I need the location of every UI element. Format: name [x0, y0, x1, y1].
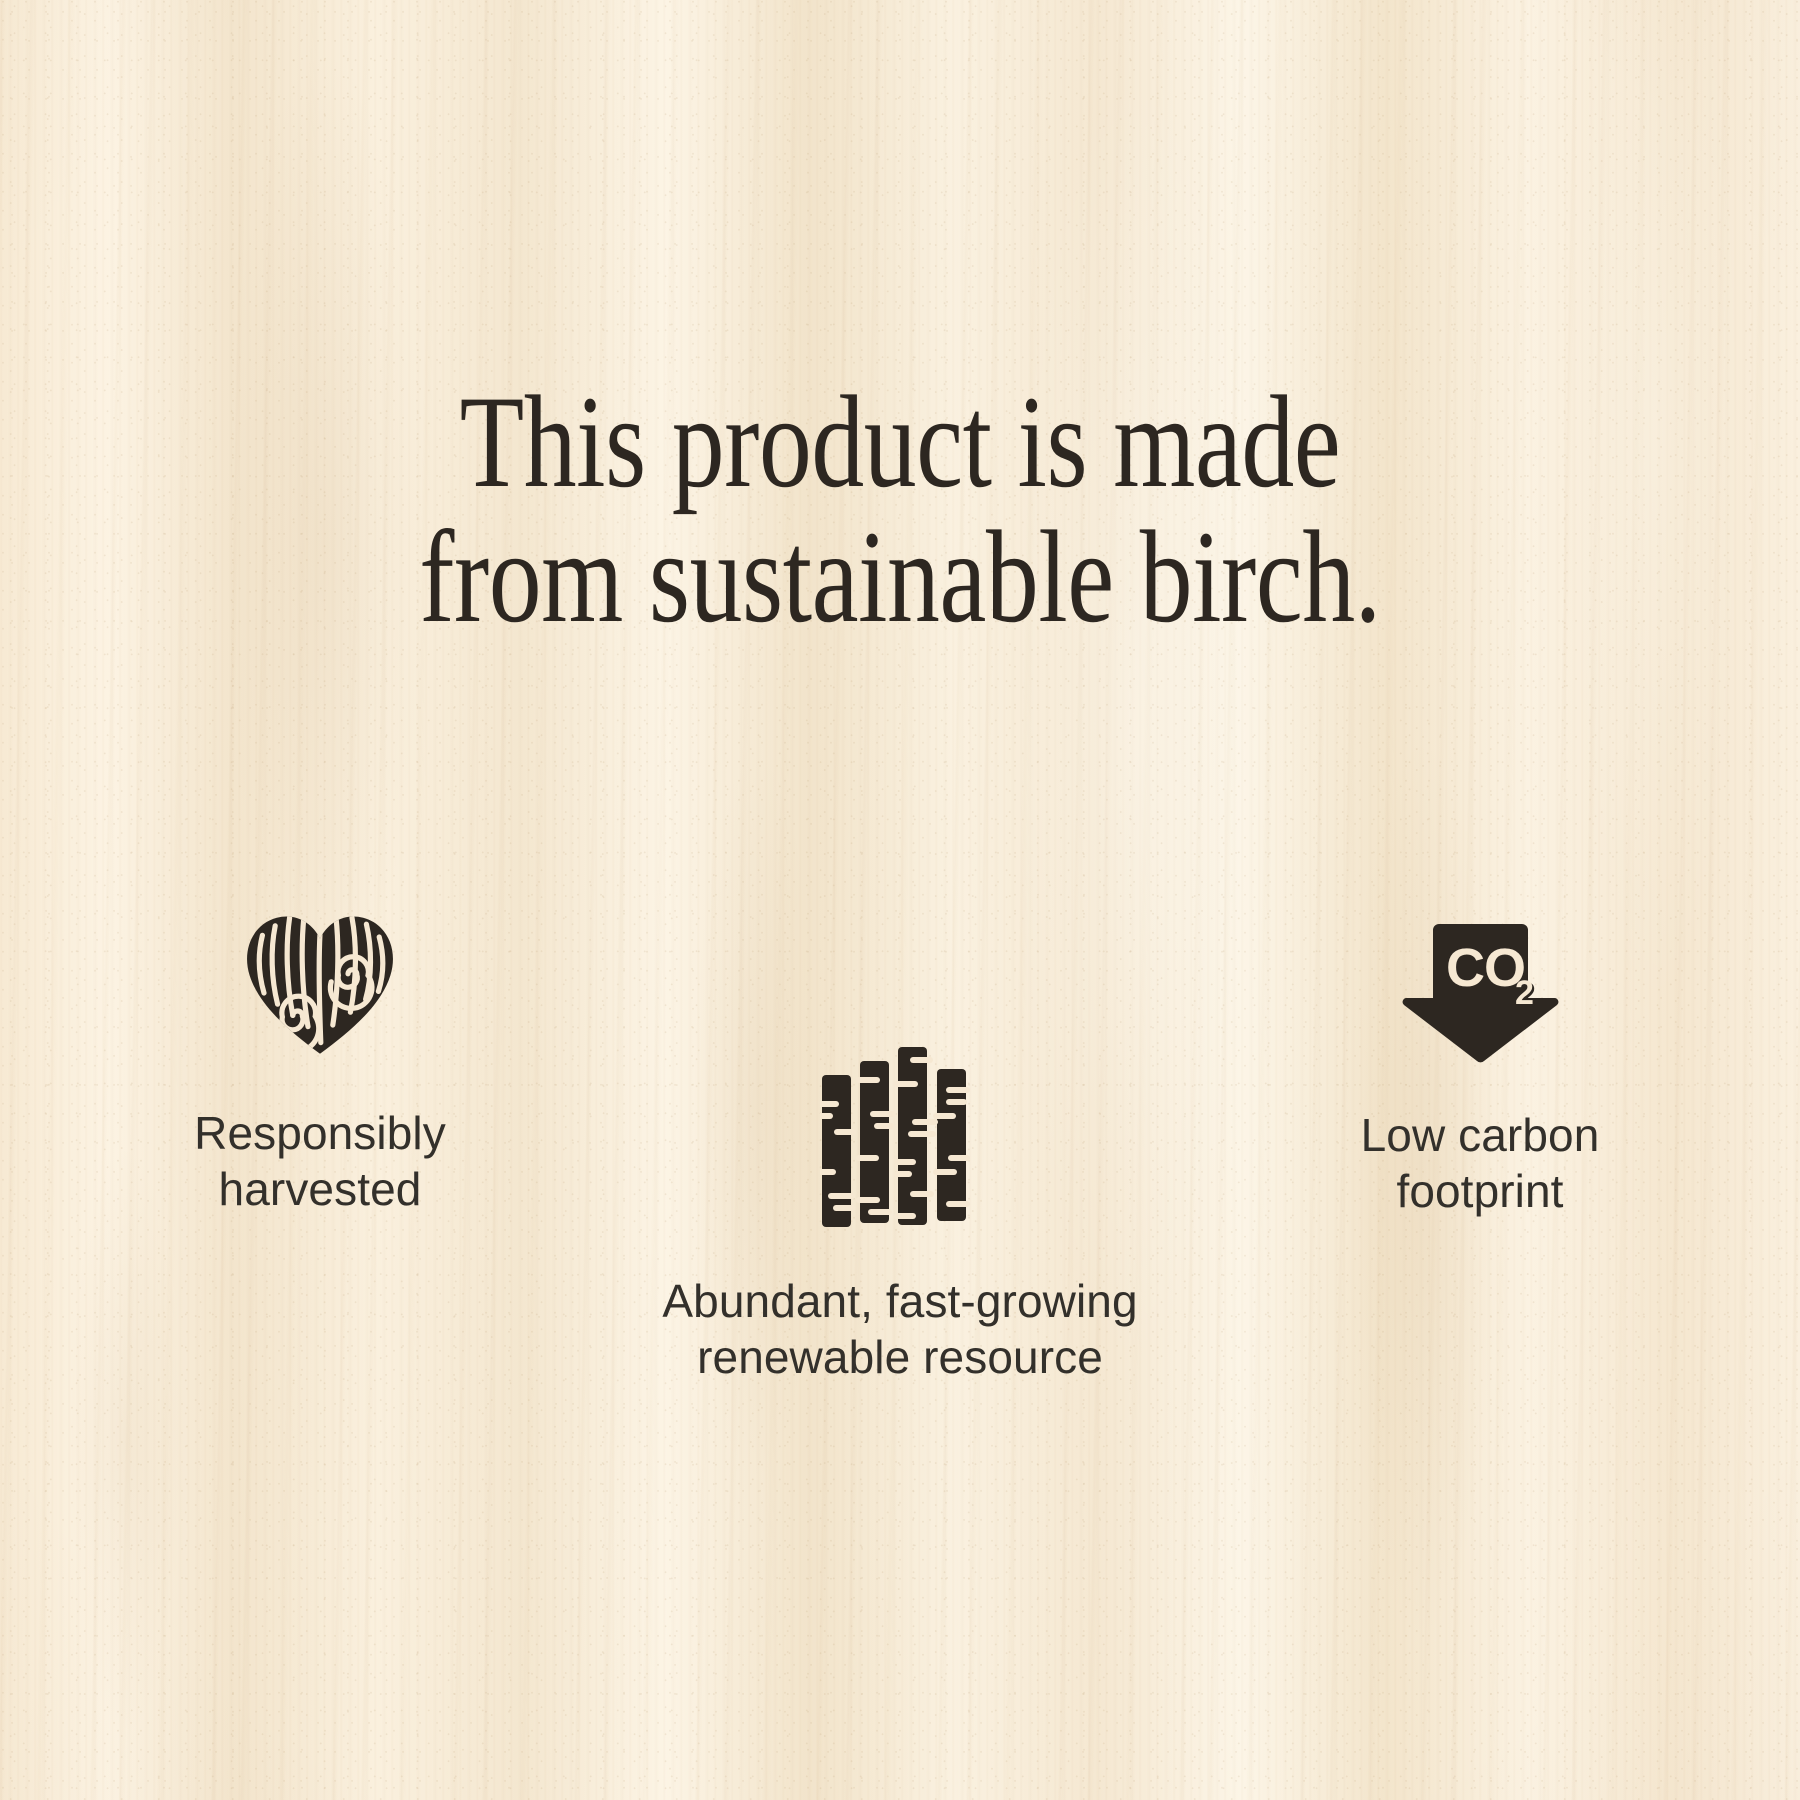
wood-grain-heart-icon — [240, 905, 400, 1065]
content-layer: This product is made from sustainable bi… — [0, 0, 1800, 1800]
headline: This product is made from sustainable bi… — [180, 375, 1620, 644]
feature-abundant-renewable: Abundant, fast-growing renewable resourc… — [580, 1045, 1220, 1385]
co2-icon-subscript: 2 — [1515, 974, 1534, 1012]
icon-container: CO 2 2 — [1260, 920, 1700, 1065]
wood-background-board: This product is made from sustainable bi… — [0, 0, 1800, 1800]
icon-container — [580, 1045, 1220, 1235]
feature-label: Responsibly harvested — [100, 1105, 540, 1217]
birch-trunks-icon — [820, 1045, 980, 1235]
co2-down-arrow-icon: CO 2 2 — [1398, 920, 1563, 1065]
feature-label: Low carbon footprint — [1260, 1107, 1700, 1219]
feature-low-carbon-footprint: CO 2 2 Low carbon footprint — [1260, 920, 1700, 1219]
icon-container — [100, 895, 540, 1065]
co2-icon-text: CO — [1446, 938, 1525, 998]
feature-responsibly-harvested: Responsibly harvested — [100, 895, 540, 1217]
feature-label: Abundant, fast-growing renewable resourc… — [580, 1273, 1220, 1385]
